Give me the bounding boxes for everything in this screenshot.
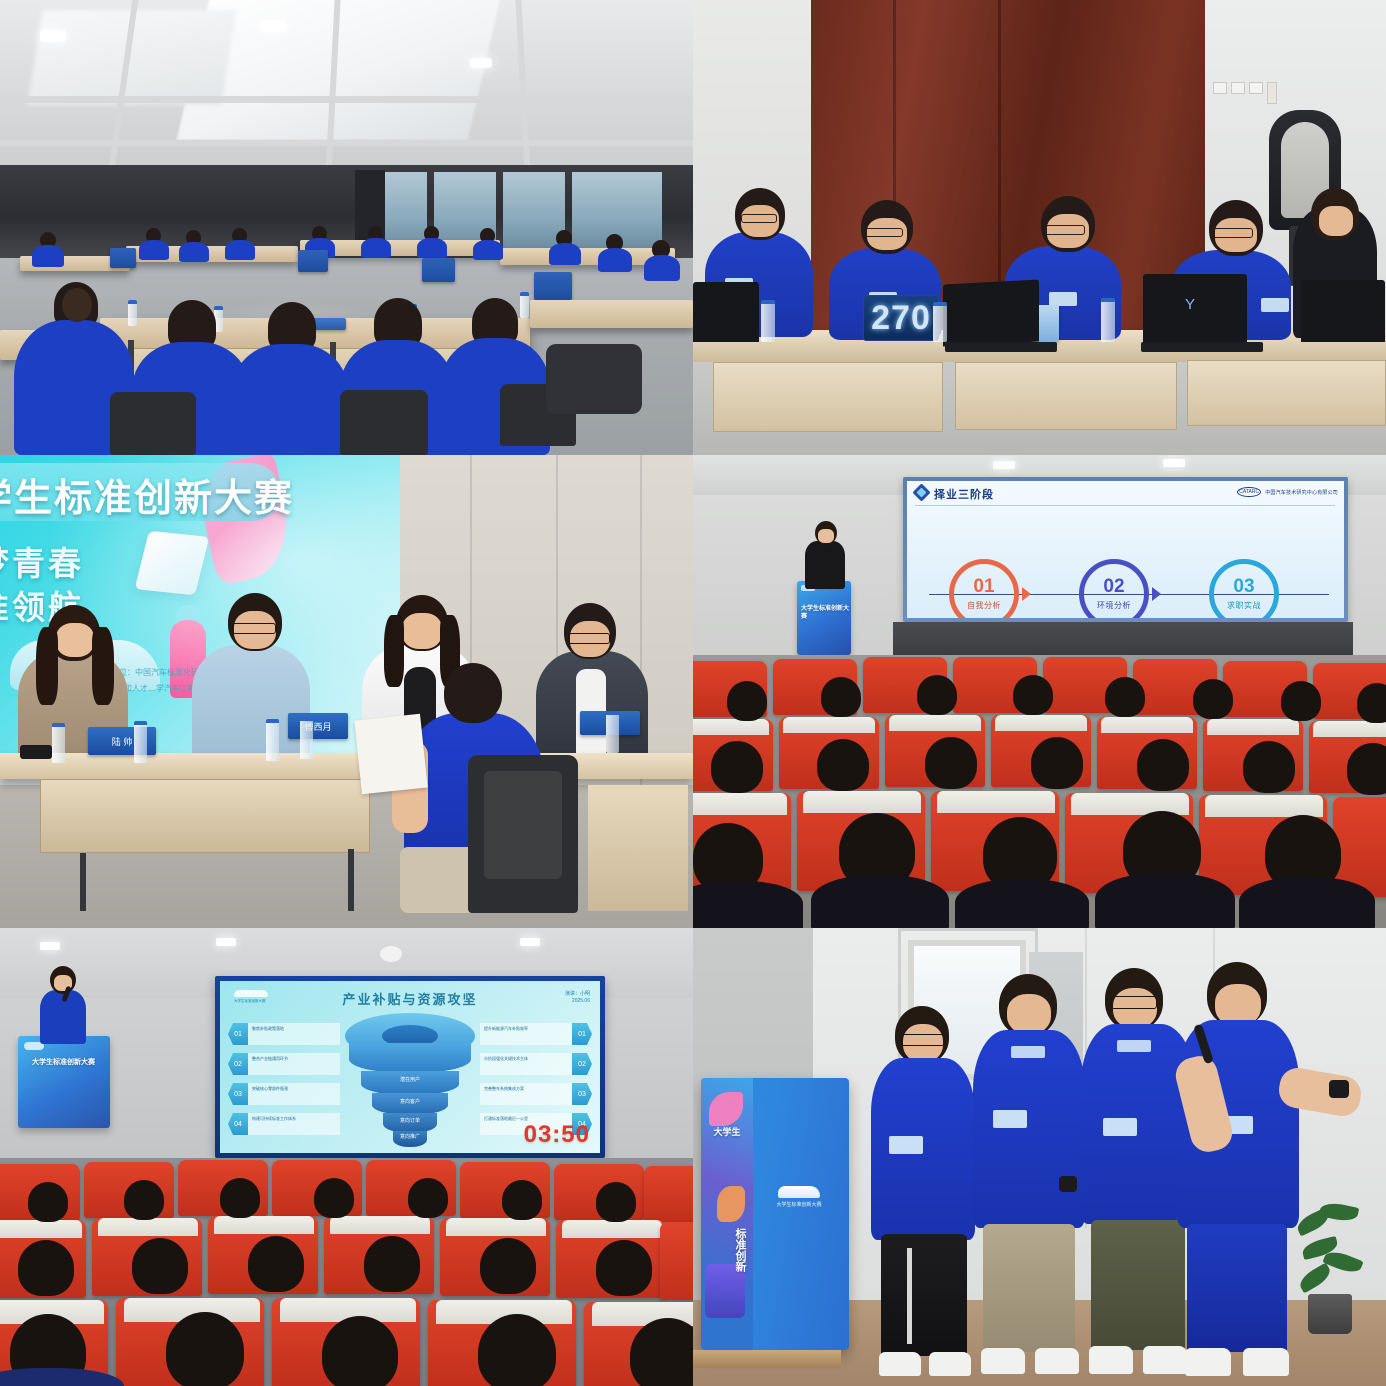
judge-hair (384, 615, 404, 687)
audience-head (220, 1178, 260, 1218)
projection-screen: 大学生标准创新大赛 产业补贴与资源攻坚 演讲：小明 2025.06 潜在用户 意… (215, 976, 605, 1158)
ceiling-light (520, 938, 540, 946)
desk-modesty-panel (713, 362, 943, 432)
glasses-icon (901, 1034, 945, 1046)
podium-banner-stand: 大学生 标准创新 大学生标准创新大赛 (701, 1078, 849, 1350)
person-torso (549, 243, 581, 265)
side-table (588, 785, 688, 911)
logo-caption: 大学生标准创新大赛 (234, 999, 276, 1004)
audience-head (18, 1240, 74, 1296)
glasses-icon (1211, 228, 1253, 238)
table-tent-card (298, 250, 328, 272)
panel-meeting-room (0, 0, 693, 455)
plant-leaf (1296, 1263, 1333, 1294)
polo-logo-icon (1117, 1040, 1151, 1052)
person-torso (225, 240, 255, 260)
audience-head (478, 1314, 556, 1386)
seat-headrest (693, 719, 769, 735)
panel-lecture-career: 择业三阶段 CATARC 中国汽车技术研究中心有限公司 01 自我分析 02 环… (693, 455, 1386, 928)
item-number: 02 (228, 1053, 248, 1075)
table-tent-card (110, 248, 136, 268)
arrow-icon (1152, 587, 1161, 601)
audience-head (1357, 683, 1386, 723)
panel-team-laptops: 270 Y (693, 0, 1386, 455)
presenting-student-head (444, 663, 502, 723)
student-shoe (1143, 1346, 1187, 1374)
wall-socket (1213, 82, 1227, 94)
laptop[interactable] (943, 279, 1039, 346)
student-trousers (1187, 1224, 1287, 1352)
logo-text: 大学生标准创新大赛 (771, 1201, 827, 1208)
seat-headrest (562, 1220, 662, 1238)
panel-students-standing: 大学生 标准创新 大学生标准创新大赛 (693, 928, 1386, 1386)
water-bottle (761, 300, 775, 342)
seat-headrest (446, 1218, 546, 1236)
slide-industry-funnel: 大学生标准创新大赛 产业补贴与资源攻坚 演讲：小明 2025.06 潜在用户 意… (220, 981, 600, 1153)
water-bottle (128, 300, 137, 326)
student-shoe (981, 1348, 1025, 1374)
table-modesty-panel (40, 779, 370, 853)
audience-head (1031, 737, 1083, 789)
judges-table (0, 753, 693, 779)
audience-head (817, 739, 869, 791)
process-step-2: 02 环境分析 (1079, 559, 1149, 618)
item-text: 整合产业链通用环节 (252, 1056, 336, 1062)
slide-title: 产业补贴与资源攻坚 (342, 989, 477, 1008)
water-bottle (300, 717, 313, 759)
water-bottle (52, 723, 65, 763)
audience-shoulders (1095, 873, 1235, 928)
photo-collage: 270 Y 学生标准创新大赛 梦青春 准领航 主办单位：中国汽车标准化研究 研究… (0, 0, 1386, 1386)
item-text: 构建可持续标准工作体系 (252, 1116, 336, 1122)
seat-headrest (330, 1216, 430, 1234)
slide-date: 2025.06 (565, 998, 590, 1005)
audience-shoulders (811, 875, 949, 928)
slide-logo: 大学生标准创新大赛 (234, 990, 276, 1004)
ceiling-light (1163, 459, 1185, 467)
banner-line-2: 标准创新 (707, 1228, 747, 1272)
slide-meta: 演讲：小明 2025.06 (565, 991, 590, 1005)
water-bottle (520, 292, 529, 318)
logo-car-icon (234, 990, 268, 997)
auditorium-seat (644, 1166, 693, 1222)
document-sheet[interactable] (354, 714, 427, 794)
person-torso (473, 240, 503, 260)
audience-head (408, 1178, 448, 1218)
trouser-stripe (907, 1248, 912, 1344)
smoke-detector-icon (380, 946, 402, 962)
audience-head (917, 675, 957, 715)
slide-career-stages: 择业三阶段 CATARC 中国汽车技术研究中心有限公司 01 自我分析 02 环… (907, 481, 1344, 618)
speaker-face (818, 529, 834, 543)
seat-headrest (783, 717, 875, 733)
audience-head (248, 1236, 304, 1292)
office-chair (110, 392, 196, 455)
ceiling-beam (0, 96, 693, 103)
chair-mesh-back (484, 771, 562, 879)
podium-banner-text: 大学生标准创新大赛 (801, 605, 851, 621)
student-shoe (929, 1352, 971, 1376)
led-banner-title: 学生标准创新大赛 (0, 467, 274, 522)
auditorium-seat (660, 1222, 693, 1300)
seat-headrest (98, 1218, 198, 1236)
seat-headrest (803, 791, 921, 813)
audience-head (1281, 681, 1321, 721)
glasses-icon (865, 228, 903, 237)
banner-logo: 大学生标准创新大赛 (771, 1186, 827, 1208)
person-hair (62, 288, 92, 322)
audience-head (1347, 743, 1386, 795)
audience-head (596, 1240, 652, 1296)
right-item-2: 02 分阶段强化关键技术主体 (480, 1053, 592, 1075)
panel-presentation-funnel: 大学生标准创新大赛 产业补贴与资源攻坚 演讲：小明 2025.06 潜在用户 意… (0, 928, 693, 1386)
process-step-3: 03 求职实战 (1209, 559, 1279, 618)
header-divider (915, 505, 1335, 506)
right-item-3: 03 完善整车系统集成方案 (480, 1083, 592, 1105)
water-bottle (266, 719, 279, 761)
audience-head (711, 741, 763, 793)
student-trousers (983, 1224, 1075, 1352)
funnel-layer-2 (361, 1071, 459, 1095)
person-torso (139, 240, 169, 260)
audience-head (124, 1180, 164, 1220)
seat-headrest (1101, 717, 1193, 733)
logo-text: 中国汽车技术研究中心有限公司 (1265, 489, 1338, 496)
corporate-logo: CATARC 中国汽车技术研究中心有限公司 (1237, 487, 1338, 497)
right-item-1: 01 提升新能源汽车补贴效率 (480, 1023, 592, 1045)
person-torso (179, 242, 209, 262)
table-tent-card (534, 272, 572, 300)
funnel-layer-1 (349, 1043, 471, 1073)
audience-head (1243, 741, 1295, 793)
step-label: 求职实战 (1227, 600, 1261, 611)
podium: 大学生标准创新大赛 (18, 1036, 110, 1128)
student-polo (871, 1058, 975, 1240)
desk-modesty-panel (1187, 360, 1386, 426)
laptop[interactable] (693, 282, 759, 342)
ceiling-light (216, 938, 236, 946)
table-leg (348, 849, 354, 911)
conference-table-front (530, 300, 693, 328)
audience-head (1105, 677, 1145, 717)
glasses-icon (741, 214, 777, 223)
judge-torso (192, 645, 310, 765)
audience-head (166, 1312, 244, 1386)
audience-shoulders (693, 881, 803, 928)
seat-headrest (214, 1216, 314, 1234)
judge-hair (92, 627, 114, 705)
person-torso (417, 238, 447, 258)
item-number: 03 (228, 1083, 248, 1105)
audience-head (480, 1238, 536, 1294)
podium: 大学生标准创新大赛 (797, 581, 851, 655)
item-number: 03 (572, 1083, 592, 1105)
seat-headrest (1207, 719, 1299, 735)
laptop-base (1141, 342, 1263, 352)
item-text: 聚焦补贴政策落地 (252, 1026, 336, 1032)
funnel-label-3: 意向订单 (400, 1117, 420, 1124)
wrist-watch (1059, 1176, 1077, 1192)
ceiling-light (260, 20, 286, 32)
student-trousers (1091, 1220, 1185, 1350)
podium-banner-text: 大学生标准创新大赛 (32, 1058, 95, 1068)
step-number: 03 (1233, 577, 1254, 596)
logo-car-icon (778, 1186, 820, 1198)
item-text: 分阶段强化关键技术主体 (484, 1056, 568, 1062)
item-text: 提升新能源汽车补贴效率 (484, 1026, 568, 1032)
plant-pot (1308, 1294, 1352, 1334)
ceiling-light (40, 30, 66, 42)
team-number-card: 270 (863, 295, 939, 341)
glasses-icon (1045, 225, 1085, 235)
student-shoe (1185, 1348, 1231, 1376)
banner-line-1: 大学生 (704, 1126, 750, 1139)
judge-face (402, 613, 442, 649)
ceiling-light (40, 942, 60, 950)
audience-head (925, 737, 977, 789)
audience-head (1193, 679, 1233, 719)
glasses-icon (1111, 996, 1157, 1009)
led-banner-subtitle-1: 梦青春 (0, 537, 84, 585)
glasses-icon (232, 623, 276, 634)
funnel-label-4: 意向推广 (400, 1133, 420, 1140)
office-chair (340, 390, 428, 455)
arrow-icon (1022, 587, 1031, 601)
water-bottle (1101, 298, 1115, 342)
office-chair (546, 344, 642, 414)
audience-shoulders (1239, 877, 1375, 928)
step-label: 环境分析 (1097, 600, 1131, 611)
step-number: 02 (1103, 577, 1124, 596)
potted-plant (1294, 1204, 1364, 1334)
seat-headrest (1313, 721, 1386, 737)
audience-head (1137, 739, 1189, 791)
wall-socket (1231, 82, 1245, 94)
panel-judges: 学生标准创新大赛 梦青春 准领航 主办单位：中国汽车标准化研究 研究中心有限公司… (0, 455, 693, 928)
seat-headrest (937, 791, 1055, 813)
stage-backdrop (893, 622, 1353, 657)
funnel-label-1: 潜在用户 (400, 1076, 420, 1083)
step-label: 自我分析 (967, 600, 1001, 611)
water-bottle (933, 302, 947, 342)
audience-head (314, 1178, 354, 1218)
banner-shape-purple (705, 1264, 745, 1318)
wrist-watch (1329, 1080, 1349, 1098)
podium-base (693, 1350, 841, 1368)
table-leg (80, 853, 86, 911)
logo-mark: CATARC (1237, 487, 1261, 497)
left-item-4: 04 构建可持续标准工作体系 (228, 1113, 340, 1135)
judge-face (56, 623, 94, 657)
audience-shoulders (955, 879, 1089, 928)
slide-presenter: 演讲：小明 (565, 991, 590, 998)
audience-head (596, 1182, 636, 1222)
audience-head (28, 1182, 68, 1222)
name-badge (889, 1136, 923, 1154)
judge-hair (36, 627, 58, 705)
person-torso (232, 344, 348, 455)
name-badge (1261, 298, 1289, 312)
laptop-logo-icon: Y (1185, 296, 1201, 312)
person-torso (598, 248, 632, 272)
water-bottle (134, 721, 147, 763)
audience-head (1013, 675, 1053, 715)
staff-face (1319, 206, 1353, 236)
item-number: 02 (572, 1053, 592, 1075)
seat-headrest (889, 715, 981, 731)
audience-head (322, 1316, 398, 1386)
student-polo (973, 1030, 1085, 1228)
audience-head (364, 1236, 420, 1292)
item-number: 04 (228, 1113, 248, 1135)
seat-headrest (995, 715, 1087, 731)
item-text: 突破核心零部件瓶颈 (252, 1086, 336, 1092)
ceiling-light (470, 58, 492, 68)
student-shoe (1089, 1346, 1133, 1374)
wall-socket (1249, 82, 1263, 94)
left-item-3: 03 突破核心零部件瓶颈 (228, 1083, 340, 1105)
item-number: 01 (572, 1023, 592, 1045)
student-shoe (879, 1352, 921, 1376)
audience-head (132, 1238, 188, 1294)
process-step-1: 01 自我分析 (949, 559, 1019, 618)
name-badge (1049, 292, 1077, 306)
audience-head (821, 677, 861, 717)
water-bottle (606, 711, 619, 753)
left-item-1: 01 聚焦补贴政策落地 (228, 1023, 340, 1045)
audience-head (727, 681, 767, 721)
seat-headrest (1205, 795, 1323, 817)
judge-nameplate: 傅西月 (288, 713, 348, 739)
glasses-icon (568, 633, 610, 644)
step-number: 01 (973, 577, 994, 596)
student-shoe (1035, 1348, 1079, 1374)
polo-logo-icon (1011, 1046, 1045, 1058)
name-badge (1103, 1118, 1137, 1136)
student-trousers (881, 1234, 967, 1356)
table-tent-card (422, 258, 455, 282)
student-face (1007, 994, 1051, 1034)
seat-headrest (0, 1220, 82, 1238)
countdown-timer: 03:50 (524, 1123, 590, 1147)
smartphone[interactable] (20, 745, 52, 759)
item-text: 完善整车系统集成方案 (484, 1086, 568, 1092)
speaker-torso (805, 541, 845, 589)
light-switch[interactable] (1267, 82, 1277, 104)
funnel-label-2: 意向客户 (400, 1098, 420, 1105)
projection-screen: 择业三阶段 CATARC 中国汽车技术研究中心有限公司 01 自我分析 02 环… (903, 477, 1348, 622)
laptop[interactable] (1301, 280, 1385, 342)
audience-head (502, 1180, 542, 1220)
ceiling-beam (0, 140, 693, 146)
person-torso (644, 255, 680, 281)
item-number: 01 (228, 1023, 248, 1045)
ceiling-light (993, 461, 1015, 469)
left-item-2: 02 整合产业链通用环节 (228, 1053, 340, 1075)
desk-modesty-panel (955, 362, 1177, 430)
slide-title: 择业三阶段 (934, 486, 994, 502)
name-badge (993, 1110, 1027, 1128)
student-shoe (1243, 1348, 1289, 1376)
laptop-base (945, 342, 1057, 352)
person-torso (361, 238, 391, 258)
seat-headrest (693, 793, 787, 815)
person-torso (32, 245, 64, 267)
banner-shape-orange (717, 1186, 745, 1222)
